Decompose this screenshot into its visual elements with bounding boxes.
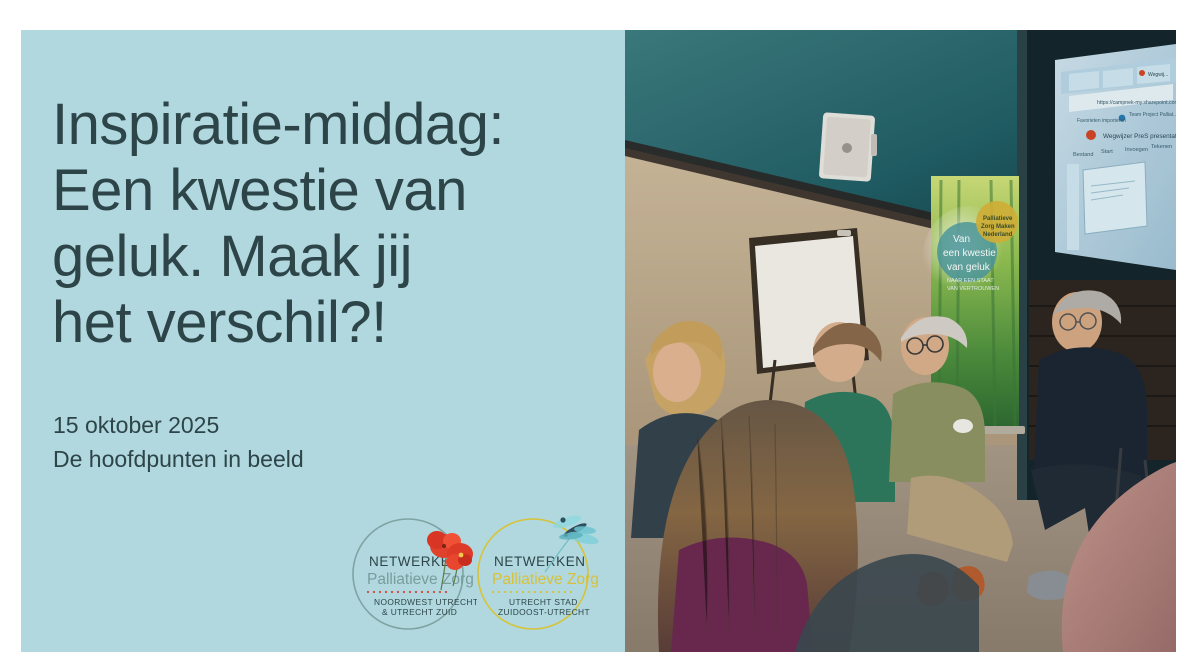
logo-line-region-2: & UTRECHT ZUID <box>382 607 457 617</box>
event-subtitle: De hoofdpunten in beeld <box>53 442 573 476</box>
logo-netwerken-palliatieve-zorg-noordwest-utrecht: NETWERKEN Palliatieve Zorg NOORDWEST UTR… <box>345 500 477 646</box>
event-photo: Van een kwestie van geluk NAAR EEN STAAT… <box>625 30 1176 652</box>
logo-group: NETWERKEN Palliatieve Zorg NOORDWEST UTR… <box>345 500 613 646</box>
logo-line-networken: NETWERKEN <box>494 554 586 569</box>
logo-line-region-1: UTRECHT STAD <box>509 597 578 607</box>
event-date: 15 oktober 2025 <box>53 408 573 442</box>
text-panel: Inspiratie-middag: Een kwestie van geluk… <box>21 30 625 652</box>
page-title: Inspiratie-middag: Een kwestie van geluk… <box>52 92 597 356</box>
logo-netwerken-palliatieve-zorg-utrecht-stad: NETWERKEN Palliatieve Zorg UTRECHT STAD … <box>467 500 599 646</box>
event-meta: 15 oktober 2025 De hoofdpunten in beeld <box>53 408 573 476</box>
slide-canvas: Inspiratie-middag: Een kwestie van geluk… <box>21 30 1176 652</box>
logo-dot-rule <box>367 591 447 593</box>
logo-line-palliatieve-zorg: Palliatieve Zorg <box>367 571 474 588</box>
logo-line-region-2: ZUIDOOST-UTRECHT <box>498 607 590 617</box>
logo-line-palliatieve-zorg: Palliatieve Zorg <box>492 571 599 588</box>
logo-dot-rule <box>492 591 572 593</box>
logo-line-region-1: NOORDWEST UTRECHT <box>374 597 477 607</box>
